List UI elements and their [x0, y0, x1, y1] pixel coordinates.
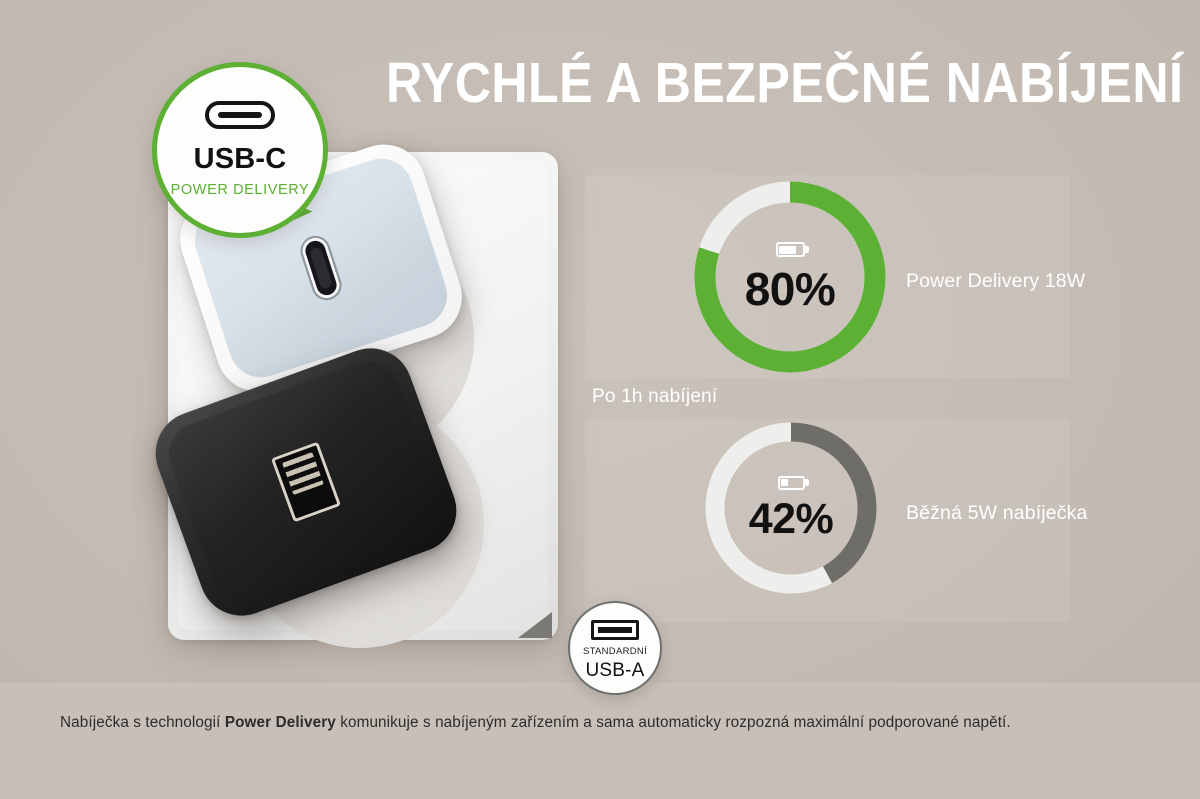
footer-caption-part2: komunikuje s nabíjeným zařízením a sama …	[336, 714, 1011, 731]
battery-icon	[776, 242, 805, 257]
footer-strip	[0, 681, 1200, 799]
donut-80-center: 80%	[691, 178, 889, 376]
footer-caption: Nabíječka s technologií Power Delivery k…	[60, 712, 1150, 734]
comparison-middle-label: Po 1h nabíjení	[592, 386, 717, 408]
usb-a-badge-title: USB-A	[570, 660, 660, 682]
donut-42-center: 42%	[702, 419, 880, 597]
usb-a-port-icon	[271, 441, 341, 522]
footer-caption-part1: Nabíječka s technologií	[60, 714, 225, 731]
usb-c-connector-icon	[205, 101, 275, 129]
battery-fill	[781, 479, 788, 486]
legend-label-power-delivery: Power Delivery 18W	[906, 270, 1085, 293]
usb-c-badge-subtitle: POWER DELIVERY	[157, 182, 323, 198]
battery-fill	[779, 246, 796, 254]
legend-label-standard-charger: Běžná 5W nabíječka	[906, 502, 1088, 525]
donut-chart-power-delivery: 80%	[691, 178, 889, 376]
usb-c-badge: USB-C POWER DELIVERY	[152, 62, 328, 238]
usb-c-badge-title: USB-C	[157, 143, 323, 176]
footer-caption-bold: Power Delivery	[225, 714, 336, 731]
usb-a-connector-icon	[591, 620, 639, 640]
donut-42: 42%	[702, 419, 880, 597]
donut-chart-standard-charger: 42%	[702, 419, 880, 597]
donut-42-value: 42%	[749, 498, 834, 541]
donut-80-value: 80%	[745, 266, 836, 312]
usb-a-badge-pointer	[518, 612, 552, 638]
page-title: RYCHLÉ A BEZPEČNÉ NABÍJENÍ	[386, 52, 1055, 114]
donut-80: 80%	[691, 178, 889, 376]
usb-c-port-icon	[299, 235, 343, 302]
battery-icon	[778, 476, 805, 490]
usb-a-badge: STANDARDNÍ USB-A	[568, 601, 662, 695]
usb-a-badge-subtitle: STANDARDNÍ	[570, 646, 660, 657]
infographic-stage: RYCHLÉ A BEZPEČNÉ NABÍJENÍ STANDARDNÍ US…	[0, 0, 1200, 799]
